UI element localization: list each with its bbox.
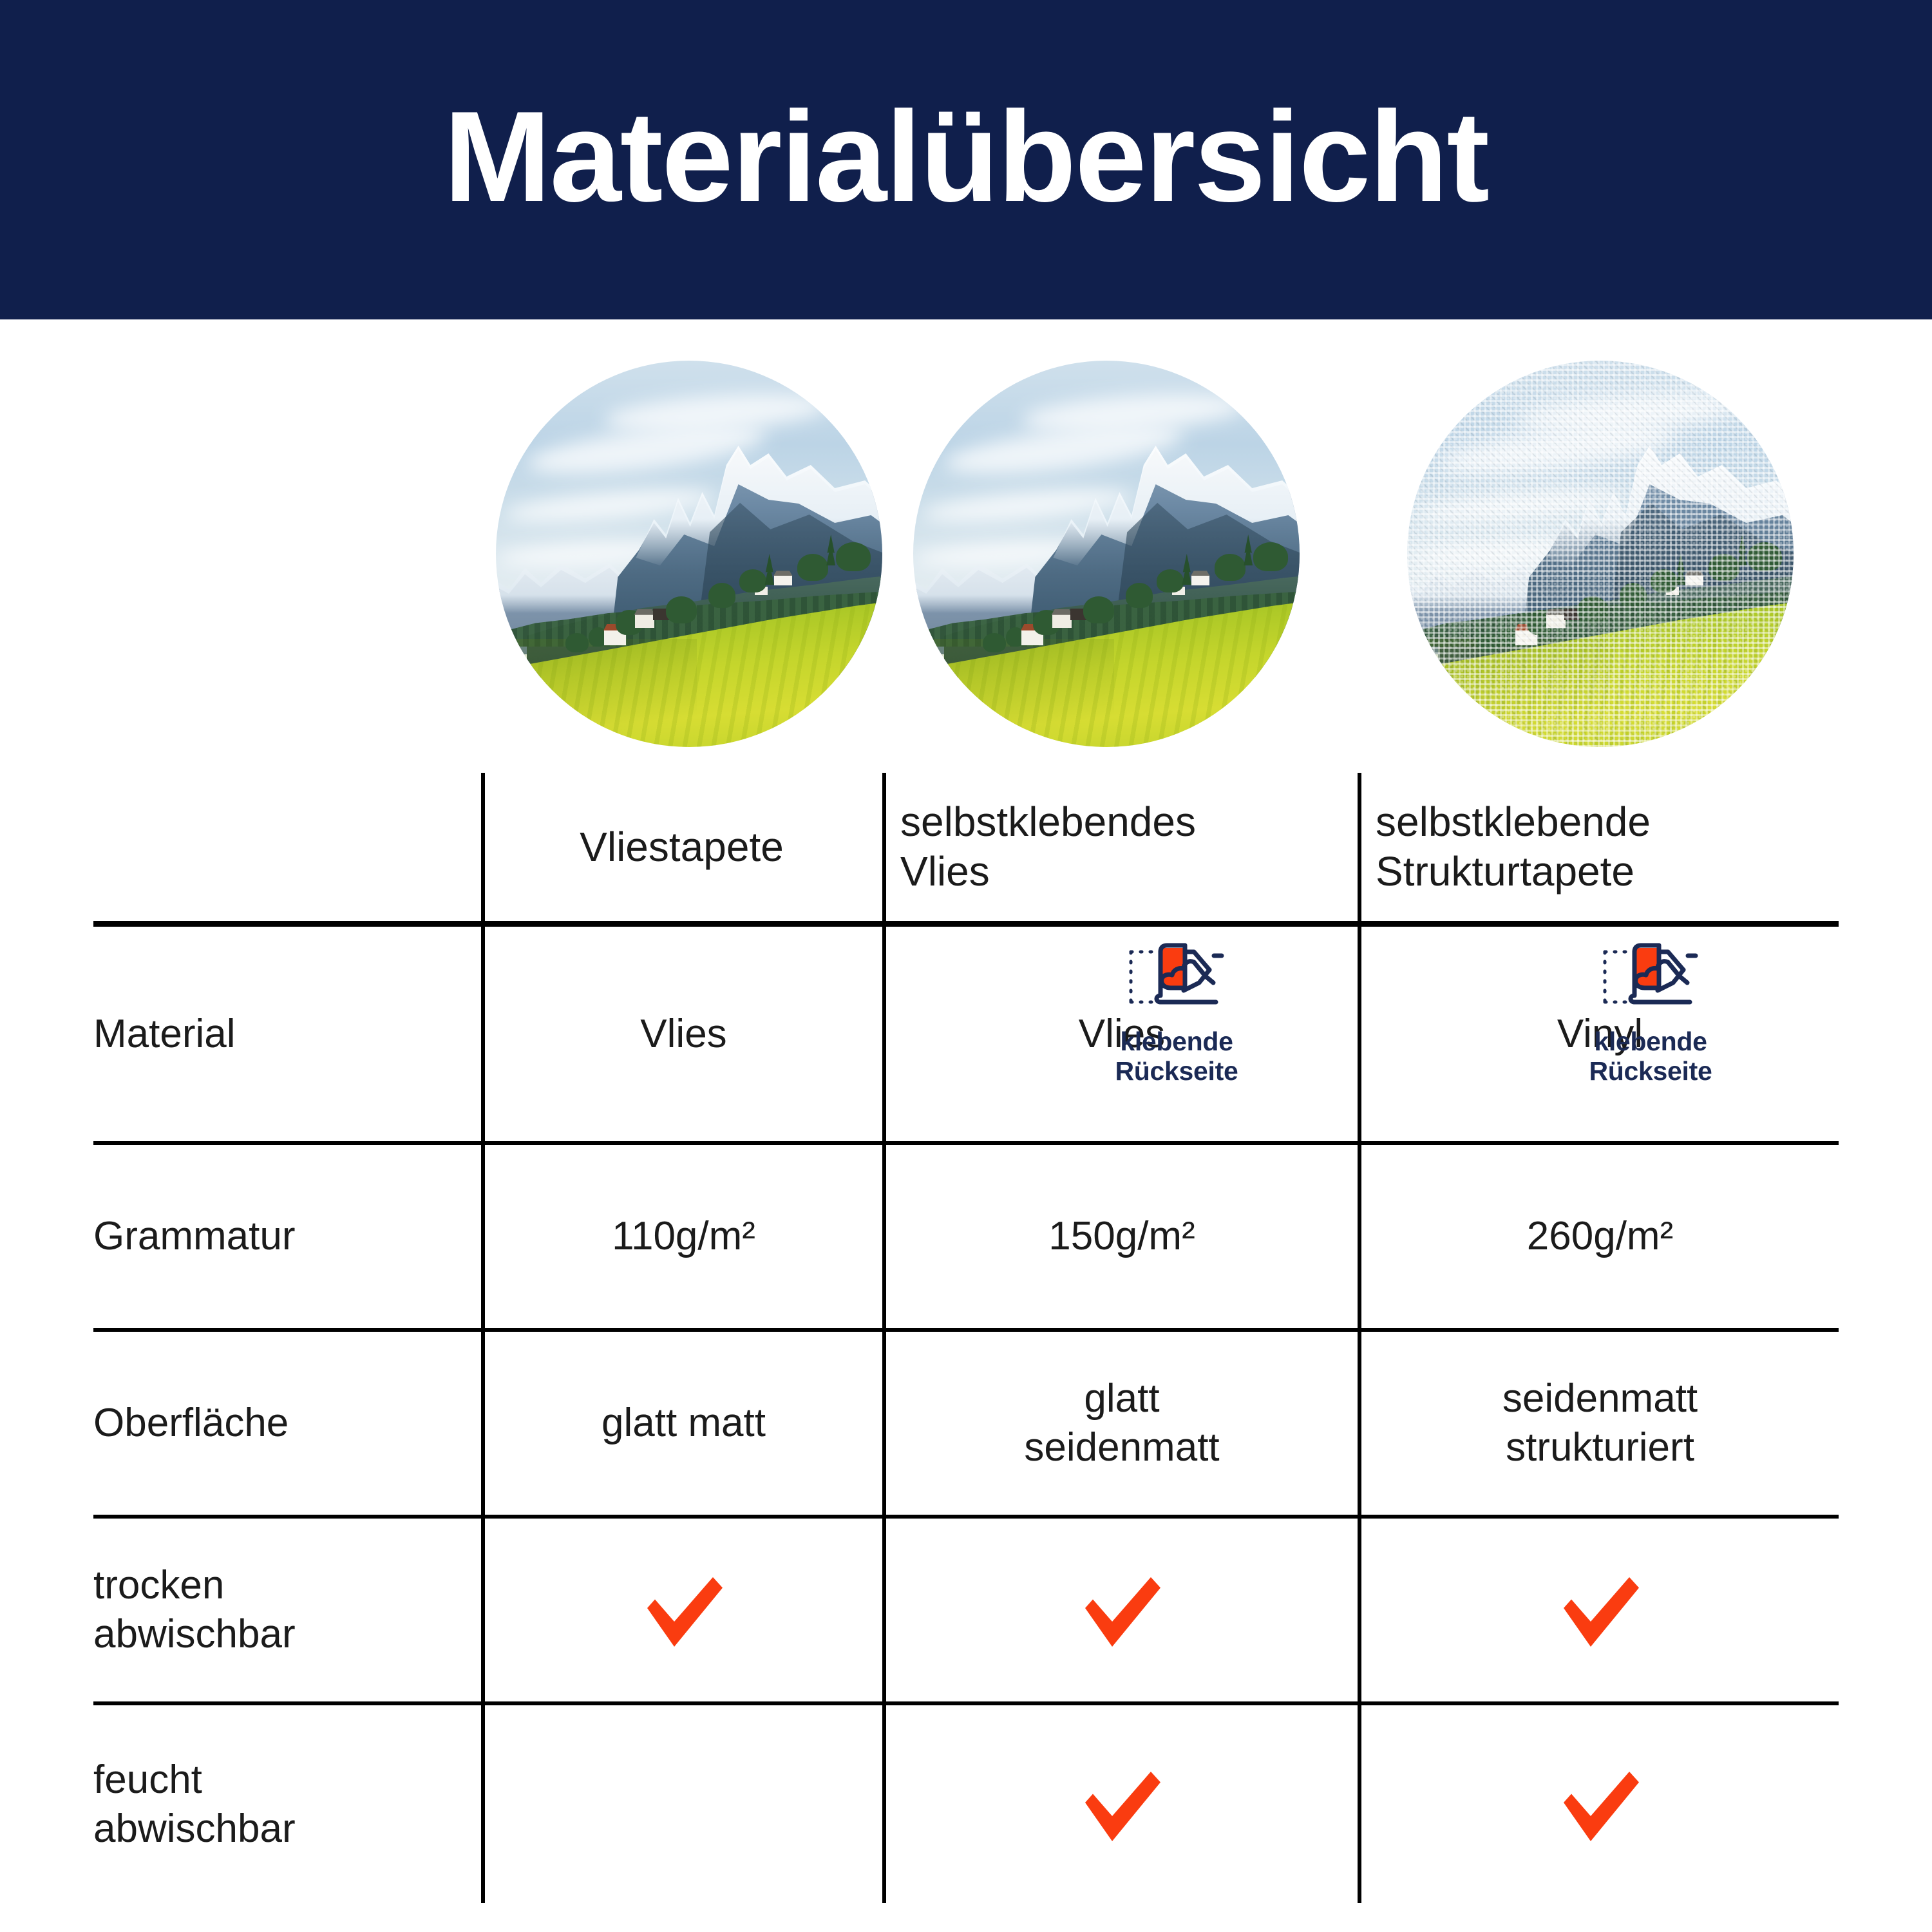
column-header-label-line2: Strukturtapete [1376, 847, 1651, 896]
page-header-bar: Materialübersicht [0, 0, 1932, 319]
cell-material-vliestapete: Vlies [485, 927, 882, 1141]
page-title: Materialübersicht [444, 93, 1488, 222]
bush [983, 633, 1006, 652]
cell-value: Vlies [640, 1010, 726, 1059]
cell-oberflaeche-strukturtapete: seidenmatt strukturiert [1361, 1332, 1839, 1515]
cell-value: 260g/m² [1527, 1212, 1673, 1261]
badge-label-line1: klebende [1115, 1027, 1238, 1057]
cell-value: 150g/m² [1048, 1212, 1195, 1261]
bush [565, 633, 589, 652]
badge-label-line1: klebende [1589, 1027, 1712, 1057]
column-header-label: Vliestapete [580, 822, 784, 872]
cell-value: glatt matt [601, 1399, 766, 1448]
row-label-oberflaeche: Oberfläche [93, 1332, 481, 1515]
bush [739, 569, 766, 592]
table-header-rule [93, 921, 1839, 927]
row-label-text: Material [93, 1010, 481, 1059]
column-header-label-line1: selbstklebende [1376, 797, 1651, 847]
material-swatch-selbstklebende-strukturtapete [1407, 361, 1794, 747]
bush [1215, 554, 1245, 581]
farmhouse [1052, 614, 1072, 628]
row-label-text: Oberfläche [93, 1399, 481, 1448]
bush [1083, 596, 1114, 623]
adhesive-backing-badge-column-2: klebende Rückseite [1103, 940, 1251, 1086]
bush [1253, 542, 1288, 571]
cell-oberflaeche-vliestapete: glatt matt [485, 1332, 882, 1515]
adhesive-backing-hand-icon [1596, 940, 1705, 1021]
badge-label: klebende Rückseite [1589, 1027, 1712, 1086]
table-column-header-2: selbstklebendes Vlies [886, 773, 1372, 921]
bush [1157, 569, 1184, 592]
farmhouse [774, 575, 792, 585]
row-label-trocken-abwischbar: trocken abwischbar [93, 1519, 481, 1701]
column-header-label-line1: selbstklebendes [900, 797, 1196, 847]
landscape-scene [913, 361, 1300, 747]
row-label-text-line1: trocken [93, 1561, 481, 1610]
column-header-label-line2: Vlies [900, 847, 1196, 896]
fabric-texture-dots [1407, 361, 1794, 747]
cell-trocken-strukturtapete [1361, 1519, 1839, 1701]
material-swatch-vliestapete [496, 361, 882, 747]
bush [708, 583, 735, 608]
checkmark-icon [1552, 1562, 1649, 1658]
row-label-text-line2: abwischbar [93, 1804, 481, 1853]
cell-oberflaeche-selbstklebendes-vlies: glatt seidenmatt [886, 1332, 1358, 1515]
bush [1126, 583, 1153, 608]
material-swatch-selbstklebendes-vlies [913, 361, 1300, 747]
row-label-material: Material [93, 927, 481, 1141]
checkmark-icon [636, 1562, 732, 1658]
meadow-shadow [496, 639, 697, 747]
table-column-header-3: selbstklebende Strukturtapete [1361, 773, 1853, 921]
cell-feucht-vliestapete [485, 1705, 882, 1903]
cell-value-line1: seidenmatt [1502, 1374, 1698, 1423]
cell-grammatur-selbstklebendes-vlies: 150g/m² [886, 1145, 1358, 1328]
cell-value-line2: seidenmatt [1024, 1423, 1219, 1472]
badge-label-line2: Rückseite [1115, 1057, 1238, 1086]
landscape-scene [1407, 361, 1794, 747]
farmhouse [1191, 575, 1209, 585]
bush [666, 596, 697, 623]
landscape-scene [496, 361, 882, 747]
row-label-text-line2: abwischbar [93, 1610, 481, 1659]
cell-trocken-vliestapete [485, 1519, 882, 1701]
adhesive-backing-badge-column-3: klebende Rückseite [1577, 940, 1725, 1086]
cell-trocken-selbstklebendes-vlies [886, 1519, 1358, 1701]
cell-grammatur-strukturtapete: 260g/m² [1361, 1145, 1839, 1328]
cell-value-line1: glatt [1024, 1374, 1219, 1423]
cell-feucht-strukturtapete [1361, 1705, 1839, 1903]
badge-label-line2: Rückseite [1589, 1057, 1712, 1086]
meadow-shadow [913, 639, 1114, 747]
row-label-text: Grammatur [93, 1212, 481, 1261]
checkmark-icon [1552, 1756, 1649, 1853]
row-label-grammatur: Grammatur [93, 1145, 481, 1328]
row-label-text-line1: feucht [93, 1756, 481, 1804]
farmhouse [635, 614, 654, 628]
cell-grammatur-vliestapete: 110g/m² [485, 1145, 882, 1328]
bush [797, 554, 828, 581]
cell-feucht-selbstklebendes-vlies [886, 1705, 1358, 1903]
bush [836, 542, 871, 571]
table-column-header-1: Vliestapete [481, 773, 882, 921]
adhesive-backing-hand-icon [1122, 940, 1231, 1021]
badge-label: klebende Rückseite [1115, 1027, 1238, 1086]
cell-value-line2: strukturiert [1502, 1423, 1698, 1472]
checkmark-icon [1074, 1756, 1170, 1853]
cell-value: 110g/m² [612, 1212, 755, 1261]
row-label-feucht-abwischbar: feucht abwischbar [93, 1705, 481, 1903]
checkmark-icon [1074, 1562, 1170, 1658]
